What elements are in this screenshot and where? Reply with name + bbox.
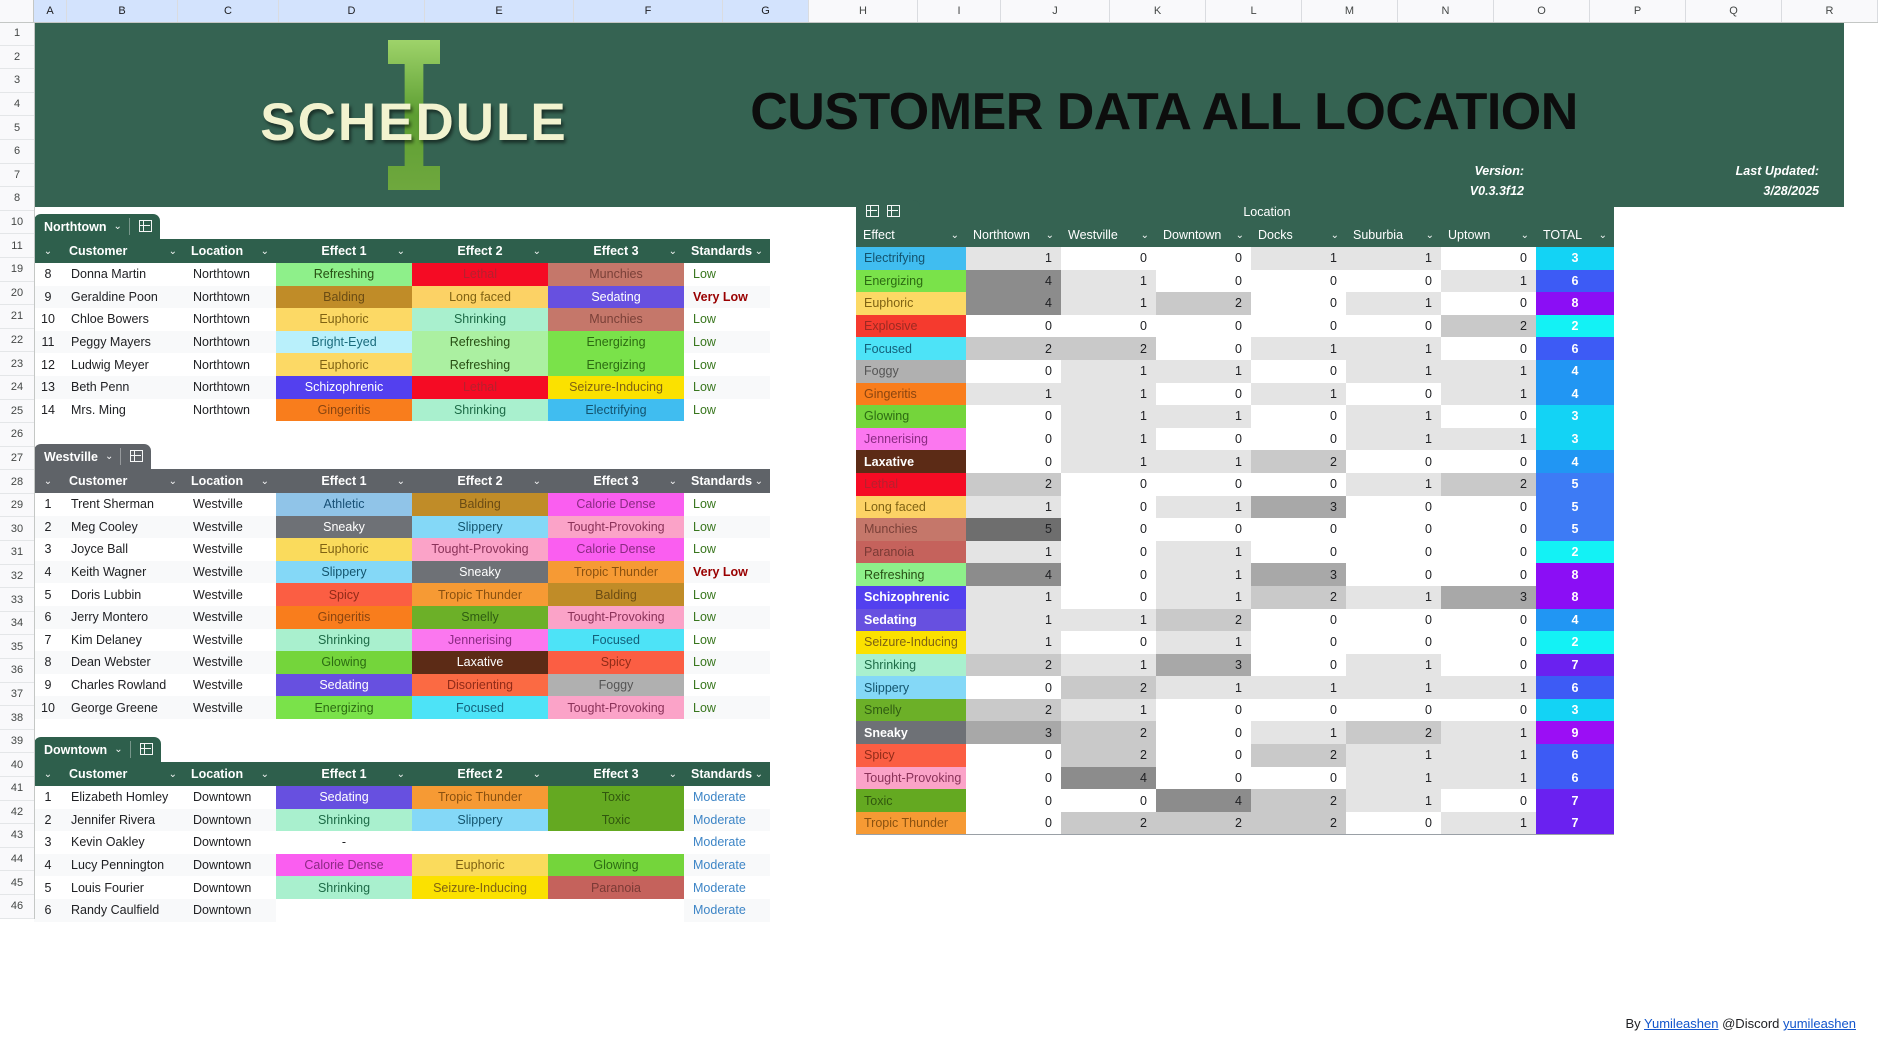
table-row[interactable]: 8Dean WebsterWestvilleGlowingLaxativeSpi… — [34, 651, 770, 674]
pivot-value-cell: 4 — [966, 563, 1061, 586]
table-row[interactable]: 6Jerry MonteroWestvilleGingeritisSmellyT… — [34, 606, 770, 629]
chevron-down-icon[interactable]: ⌄ — [169, 246, 177, 257]
pivot-value-cell: 2 — [1251, 586, 1346, 609]
column-location[interactable]: Location⌄ — [184, 469, 276, 493]
column-effect-1[interactable]: Effect 1⌄ — [276, 762, 412, 786]
table-row[interactable]: 10Chloe BowersNorthtownEuphoricShrinking… — [34, 308, 770, 331]
table-row[interactable]: 1Trent ShermanWestvilleAthleticBaldingCa… — [34, 493, 770, 516]
pivot-row[interactable]: Jennerising0100113 — [856, 428, 1614, 451]
cell-effect-3: Sedating — [548, 286, 684, 309]
table-row[interactable]: 1Elizabeth HomleyDowntownSedatingTropic … — [34, 786, 770, 809]
pivot-value-cell: 0 — [1441, 541, 1536, 564]
pivot-total-cell: 6 — [1536, 767, 1614, 790]
chevron-down-icon[interactable]: ⌄ — [44, 476, 52, 487]
column-header-i[interactable]: I — [918, 0, 1001, 22]
pivot-row[interactable]: Sedating1120004 — [856, 609, 1614, 632]
cell-customer: Keith Wagner — [62, 561, 184, 584]
cell-location: Westville — [184, 651, 276, 674]
row-header-19[interactable]: 19 — [0, 258, 34, 282]
pivot-value-cell: 2 — [966, 473, 1061, 496]
column-header-m[interactable]: M — [1302, 0, 1398, 22]
pivot-column-total[interactable]: TOTAL⌄ — [1536, 223, 1614, 247]
column-header-n[interactable]: N — [1398, 0, 1494, 22]
pivot-row[interactable]: Smelly2100003 — [856, 699, 1614, 722]
column-header-p[interactable]: P — [1590, 0, 1686, 22]
pivot-value-cell: 1 — [1251, 721, 1346, 744]
pivot-row[interactable]: Tropic Thunder0222017 — [856, 812, 1614, 835]
column-customer[interactable]: Customer⌄ — [62, 239, 184, 263]
table-row[interactable]: 12Ludwig MeyerNorthtownEuphoricRefreshin… — [34, 353, 770, 376]
pivot-value-cell: 1 — [1061, 654, 1156, 677]
row-header-3[interactable]: 3 — [0, 69, 34, 93]
pivot-value-cell: 0 — [966, 450, 1061, 473]
pivot-value-cell: 0 — [1061, 315, 1156, 338]
cell-effect-1: Gingeritis — [276, 399, 412, 422]
row-header-45[interactable]: 45 — [0, 871, 34, 895]
column-header-b[interactable]: B — [67, 0, 178, 22]
row-header-1[interactable]: 1 — [0, 22, 34, 46]
pivot-value-cell: 0 — [1156, 315, 1251, 338]
chevron-down-icon[interactable]: ⌄ — [1141, 230, 1149, 241]
column-header-c[interactable]: C — [178, 0, 279, 22]
cell-effect-2: Disorienting — [412, 674, 548, 697]
cell-effect-2: Smelly — [412, 606, 548, 629]
row-header-32[interactable]: 32 — [0, 565, 34, 589]
chevron-down-icon[interactable]: ⌄ — [44, 769, 52, 780]
chevron-down-icon[interactable]: ⌄ — [261, 246, 269, 257]
table-row[interactable]: 4Lucy PenningtonDowntownCalorie DenseEup… — [34, 854, 770, 877]
row-header-31[interactable]: 31 — [0, 541, 34, 565]
pivot-value-cell: 0 — [1061, 518, 1156, 541]
row-header-36[interactable]: 36 — [0, 659, 34, 683]
chevron-down-icon[interactable]: ⌄ — [1521, 230, 1529, 241]
column-effect-3[interactable]: Effect 3⌄ — [548, 762, 684, 786]
pivot-value-cell: 2 — [1061, 721, 1156, 744]
cell-effect-3: Balding — [548, 583, 684, 606]
column-header-r[interactable]: R — [1782, 0, 1878, 22]
pivot-total-cell: 4 — [1536, 609, 1614, 632]
tab-chevron-down-icon[interactable]: ⌄ — [105, 451, 113, 462]
row-header-23[interactable]: 23 — [0, 352, 34, 376]
chevron-down-icon[interactable]: ⌄ — [261, 769, 269, 780]
row-index: 11 — [34, 331, 62, 354]
column-label: TOTAL — [1543, 228, 1582, 242]
cell-location: Westville — [184, 583, 276, 606]
pivot-value-cell: 1 — [1061, 292, 1156, 315]
pivot-column-westville[interactable]: Westville⌄ — [1061, 223, 1156, 247]
row-header-41[interactable]: 41 — [0, 777, 34, 801]
pivot-row[interactable]: Laxative0112004 — [856, 450, 1614, 473]
pivot-value-cell: 1 — [1441, 383, 1536, 406]
pivot-effect-label: Tought-Provoking — [856, 767, 966, 790]
row-header-44[interactable]: 44 — [0, 848, 34, 872]
pivot-column-suburbia[interactable]: Suburbia⌄ — [1346, 223, 1441, 247]
pivot-value-cell: 0 — [966, 405, 1061, 428]
chevron-down-icon[interactable]: ⌄ — [533, 769, 541, 780]
grid-area: SCHEDULE CUSTOMER DATA ALL LOCATION Vers… — [34, 22, 1878, 1043]
column-effect-1[interactable]: Effect 1⌄ — [276, 469, 412, 493]
column-effect-2[interactable]: Effect 2⌄ — [412, 469, 548, 493]
pivot-total-cell: 8 — [1536, 586, 1614, 609]
discord-link[interactable]: yumileashen — [1783, 1016, 1856, 1031]
row-header-37[interactable]: 37 — [0, 683, 34, 707]
pivot-value-cell: 1 — [1441, 270, 1536, 293]
column-label: Effect 3 — [593, 244, 638, 258]
pivot-column-effect[interactable]: Effect⌄ — [856, 223, 966, 247]
pivot-value-cell: 1 — [966, 496, 1061, 519]
pivot-effect-label: Toxic — [856, 789, 966, 812]
footer-credit: By Yumileashen @Discord yumileashen — [1625, 1016, 1856, 1031]
pivot-value-cell: 1 — [1346, 292, 1441, 315]
column-header-j[interactable]: J — [1001, 0, 1110, 22]
table-northtown: Northtown⌄⌄Customer⌄Location⌄Effect 1⌄Ef… — [34, 214, 770, 421]
row-filter-chevron[interactable]: ⌄ — [34, 239, 62, 263]
pivot-row[interactable]: Slippery0211116 — [856, 676, 1614, 699]
chevron-down-icon[interactable]: ⌄ — [397, 476, 405, 487]
column-effect-3[interactable]: Effect 3⌄ — [548, 469, 684, 493]
pivot-value-cell: 1 — [1441, 428, 1536, 451]
pivot-value-cell: 2 — [1251, 744, 1346, 767]
row-header-5[interactable]: 5 — [0, 116, 34, 140]
cell-location: Westville — [184, 493, 276, 516]
row-header-40[interactable]: 40 — [0, 753, 34, 777]
column-customer[interactable]: Customer⌄ — [62, 762, 184, 786]
calculator-icon[interactable] — [137, 219, 152, 234]
table-row[interactable]: 14Mrs. MingNorthtownGingeritisShrinkingE… — [34, 399, 770, 422]
last-updated-value: 3/28/2025 — [1594, 184, 1819, 198]
column-effect-2[interactable]: Effect 2⌄ — [412, 762, 548, 786]
cell-effect-3: Foggy — [548, 674, 684, 697]
column-header-a[interactable]: A — [34, 0, 67, 22]
row-header-8[interactable]: 8 — [0, 187, 34, 211]
table-tab-westville[interactable]: Westville⌄ — [34, 444, 151, 469]
column-label: Northtown — [973, 228, 1030, 242]
chevron-down-icon[interactable]: ⌄ — [397, 769, 405, 780]
cell-customer: Jennifer Rivera — [62, 809, 184, 832]
chevron-down-icon[interactable]: ⌄ — [1331, 230, 1339, 241]
cell-customer: Chloe Bowers — [62, 308, 184, 331]
pivot-column-downtown[interactable]: Downtown⌄ — [1156, 223, 1251, 247]
cell-effect-2: Slippery — [412, 809, 548, 832]
column-label: Uptown — [1448, 228, 1490, 242]
row-header-35[interactable]: 35 — [0, 635, 34, 659]
pivot-value-cell: 1 — [1061, 360, 1156, 383]
table-row[interactable]: 10George GreeneWestvilleEnergizingFocuse… — [34, 696, 770, 719]
table-row[interactable]: 6Randy CaulfieldDowntownModerate — [34, 899, 770, 922]
pivot-value-cell: 2 — [1251, 789, 1346, 812]
chevron-down-icon[interactable]: ⌄ — [669, 246, 677, 257]
pivot-row[interactable]: Munchies5000005 — [856, 518, 1614, 541]
column-label: Westville — [1068, 228, 1118, 242]
row-header-20[interactable]: 20 — [0, 282, 34, 306]
pivot-value-cell: 0 — [1346, 518, 1441, 541]
pivot-row[interactable]: Glowing0110103 — [856, 405, 1614, 428]
pivot-effect-label: Jennerising — [856, 428, 966, 451]
pivot-value-cell: 0 — [1346, 450, 1441, 473]
table-row[interactable]: 5Doris LubbinWestvilleSpicyTropic Thunde… — [34, 583, 770, 606]
pivot-value-cell: 0 — [1251, 518, 1346, 541]
cell-effect-2: Focused — [412, 696, 548, 719]
table-row[interactable]: 13Beth PennNorthtownSchizophrenicLethalS… — [34, 376, 770, 399]
table-tab-label: Downtown — [44, 743, 107, 757]
pivot-value-cell: 1 — [966, 541, 1061, 564]
cell-effect-3: Munchies — [548, 263, 684, 286]
pivot-effect-label: Sneaky — [856, 721, 966, 744]
table-row[interactable]: 9Geraldine PoonNorthtownBaldingLong face… — [34, 286, 770, 309]
table-row[interactable]: 3Joyce BallWestvilleEuphoricTought-Provo… — [34, 538, 770, 561]
pivot-row[interactable]: Refreshing4013008 — [856, 563, 1614, 586]
row-index: 14 — [34, 399, 62, 422]
pivot-column-uptown[interactable]: Uptown⌄ — [1441, 223, 1536, 247]
row-header-21[interactable]: 21 — [0, 305, 34, 329]
column-header-k[interactable]: K — [1110, 0, 1206, 22]
chevron-down-icon[interactable]: ⌄ — [533, 246, 541, 257]
pivot-value-cell: 4 — [966, 270, 1061, 293]
column-customer[interactable]: Customer⌄ — [62, 469, 184, 493]
pivot-value-cell: 0 — [1156, 270, 1251, 293]
cell-standards: Moderate — [684, 809, 770, 832]
table-row[interactable]: 2Jennifer RiveraDowntownShrinkingSlipper… — [34, 809, 770, 832]
column-effect-1[interactable]: Effect 1⌄ — [276, 239, 412, 263]
pivot-total-cell: 5 — [1536, 496, 1614, 519]
cell-customer: Elizabeth Homley — [62, 786, 184, 809]
row-index: 12 — [34, 353, 62, 376]
row-header-34[interactable]: 34 — [0, 612, 34, 636]
pivot-column-northtown[interactable]: Northtown⌄ — [966, 223, 1061, 247]
row-header-39[interactable]: 39 — [0, 730, 34, 754]
pivot-column-docks[interactable]: Docks⌄ — [1251, 223, 1346, 247]
chevron-down-icon[interactable]: ⌄ — [261, 476, 269, 487]
pivot-value-cell: 1 — [1156, 541, 1251, 564]
row-header-10[interactable]: 10 — [0, 211, 34, 235]
pivot-value-cell: 0 — [1346, 812, 1441, 835]
column-standards[interactable]: Standards⌄ — [684, 469, 770, 493]
column-header-h[interactable]: H — [809, 0, 918, 22]
table-row[interactable]: 4Keith WagnerWestvilleSlipperySneakyTrop… — [34, 561, 770, 584]
column-header-f[interactable]: F — [574, 0, 723, 22]
tab-divider — [130, 741, 131, 758]
row-header-22[interactable]: 22 — [0, 329, 34, 353]
row-header-30[interactable]: 30 — [0, 517, 34, 541]
table-row[interactable]: 5Louis FourierDowntownShrinkingSeizure-I… — [34, 876, 770, 899]
chevron-down-icon[interactable]: ⌄ — [169, 476, 177, 487]
row-header-6[interactable]: 6 — [0, 140, 34, 164]
column-location[interactable]: Location⌄ — [184, 762, 276, 786]
pivot-value-cell: 1 — [1156, 496, 1251, 519]
cell-effect-3: Toxic — [548, 786, 684, 809]
cell-customer: Louis Fourier — [62, 876, 184, 899]
pivot-row[interactable]: Seizure-Inducing1010002 — [856, 631, 1614, 654]
pivot-value-cell: 2 — [1346, 721, 1441, 744]
cell-effect-3: Calorie Dense — [548, 538, 684, 561]
row-header-46[interactable]: 46 — [0, 895, 34, 919]
pivot-row[interactable]: Toxic0042107 — [856, 789, 1614, 812]
column-header-g[interactable]: G — [723, 0, 809, 22]
pivot-row[interactable]: Schizophrenic1012138 — [856, 586, 1614, 609]
cell-location: Northtown — [184, 263, 276, 286]
column-header-d[interactable]: D — [279, 0, 425, 22]
table-row[interactable]: 8Donna MartinNorthtownRefreshingLethalMu… — [34, 263, 770, 286]
table-row[interactable]: 3Kevin OakleyDowntown-Moderate — [34, 831, 770, 854]
row-header-26[interactable]: 26 — [0, 423, 34, 447]
row-header-4[interactable]: 4 — [0, 93, 34, 117]
table-row[interactable]: 2Meg CooleyWestvilleSneakySlipperyTought… — [34, 516, 770, 539]
pivot-total-cell: 7 — [1536, 789, 1614, 812]
chevron-down-icon[interactable]: ⌄ — [397, 246, 405, 257]
row-header-43[interactable]: 43 — [0, 824, 34, 848]
pivot-row[interactable]: Gingeritis1101014 — [856, 383, 1614, 406]
chevron-down-icon[interactable]: ⌄ — [533, 476, 541, 487]
row-filter-chevron[interactable]: ⌄ — [34, 762, 62, 786]
pivot-value-cell: 0 — [1061, 586, 1156, 609]
cell-standards: Low — [684, 399, 770, 422]
pivot-value-cell: 1 — [1251, 383, 1346, 406]
column-header-q[interactable]: Q — [1686, 0, 1782, 22]
chevron-down-icon[interactable]: ⌄ — [755, 246, 763, 257]
row-header-38[interactable]: 38 — [0, 706, 34, 730]
pivot-row[interactable]: Foggy0110114 — [856, 360, 1614, 383]
table-row[interactable]: 7Kim DelaneyWestvilleShrinkingJennerisin… — [34, 629, 770, 652]
table-row[interactable]: 9Charles RowlandWestvilleSedatingDisorie… — [34, 674, 770, 697]
column-header-o[interactable]: O — [1494, 0, 1590, 22]
calculator-icon[interactable] — [128, 449, 143, 464]
pivot-value-cell: 0 — [966, 812, 1061, 835]
pivot-value-cell: 0 — [1251, 541, 1346, 564]
cell-effect-3: Tought-Provoking — [548, 606, 684, 629]
row-header-11[interactable]: 11 — [0, 234, 34, 258]
cell-standards: Low — [684, 516, 770, 539]
table-icon[interactable] — [864, 204, 879, 219]
column-standards[interactable]: Standards⌄ — [684, 762, 770, 786]
row-header-33[interactable]: 33 — [0, 588, 34, 612]
row-index: 3 — [34, 538, 62, 561]
column-label: Downtown — [1163, 228, 1221, 242]
pivot-header-row: Effect⌄Northtown⌄Westville⌄Downtown⌄Dock… — [856, 223, 1614, 247]
row-header-24[interactable]: 24 — [0, 376, 34, 400]
chevron-down-icon[interactable]: ⌄ — [1599, 230, 1607, 241]
table-header-row: ⌄Customer⌄Location⌄Effect 1⌄Effect 2⌄Eff… — [34, 762, 770, 786]
pivot-row[interactable]: Spicy0202116 — [856, 744, 1614, 767]
column-label: Location — [191, 474, 243, 488]
pivot-value-cell: 0 — [1156, 518, 1251, 541]
pivot-effect-label: Slippery — [856, 676, 966, 699]
cell-customer: Peggy Mayers — [62, 331, 184, 354]
pivot-row[interactable]: Paranoia1010002 — [856, 541, 1614, 564]
tab-chevron-down-icon[interactable]: ⌄ — [114, 744, 122, 755]
pivot-row[interactable]: Tought-Provoking0400116 — [856, 767, 1614, 790]
cell-customer: Joyce Ball — [62, 538, 184, 561]
cell-effect-3: Calorie Dense — [548, 493, 684, 516]
pivot-row[interactable]: Focused2201106 — [856, 337, 1614, 360]
chevron-down-icon[interactable]: ⌄ — [1426, 230, 1434, 241]
cell-effect-1: Sneaky — [276, 516, 412, 539]
column-location[interactable]: Location⌄ — [184, 239, 276, 263]
row-header-42[interactable]: 42 — [0, 801, 34, 825]
pivot-effect-label: Explosive — [856, 315, 966, 338]
table-row[interactable]: 11Peggy MayersNorthtownBright-EyedRefres… — [34, 331, 770, 354]
row-filter-chevron[interactable]: ⌄ — [34, 469, 62, 493]
chevron-down-icon[interactable]: ⌄ — [755, 476, 763, 487]
table-tab-label: Westville — [44, 450, 98, 464]
pivot-value-cell: 0 — [1251, 699, 1346, 722]
cell-effect-2: Tought-Provoking — [412, 538, 548, 561]
pivot-value-cell: 1 — [1156, 586, 1251, 609]
pivot-value-cell: 0 — [1346, 699, 1441, 722]
column-standards[interactable]: Standards⌄ — [684, 239, 770, 263]
cell-effect-1: Spicy — [276, 583, 412, 606]
chevron-down-icon[interactable]: ⌄ — [951, 230, 959, 241]
pivot-row[interactable]: Long faced1013005 — [856, 496, 1614, 519]
cell-location: Northtown — [184, 353, 276, 376]
chevron-down-icon[interactable]: ⌄ — [669, 769, 677, 780]
cell-effect-3 — [548, 831, 684, 854]
pivot-value-cell: 0 — [1156, 699, 1251, 722]
chevron-down-icon[interactable]: ⌄ — [1046, 230, 1054, 241]
tab-chevron-down-icon[interactable]: ⌄ — [113, 221, 121, 232]
cell-customer: Kevin Oakley — [62, 831, 184, 854]
pivot-value-cell: 0 — [1061, 563, 1156, 586]
pivot-row[interactable]: Explosive0000022 — [856, 315, 1614, 338]
row-header-27[interactable]: 27 — [0, 447, 34, 471]
pivot-value-cell: 1 — [1346, 654, 1441, 677]
row-header-7[interactable]: 7 — [0, 164, 34, 188]
pivot-row[interactable]: Energizing4100016 — [856, 270, 1614, 293]
cell-standards: Moderate — [684, 876, 770, 899]
pivot-total-cell: 6 — [1536, 744, 1614, 767]
table-tab-northtown[interactable]: Northtown⌄ — [34, 214, 160, 239]
row-header-25[interactable]: 25 — [0, 400, 34, 424]
cell-effect-1: Sedating — [276, 674, 412, 697]
cell-standards: Low — [684, 674, 770, 697]
chevron-down-icon[interactable]: ⌄ — [755, 769, 763, 780]
column-effect-3[interactable]: Effect 3⌄ — [548, 239, 684, 263]
pivot-row[interactable]: Lethal2000125 — [856, 473, 1614, 496]
calculator-icon[interactable] — [885, 204, 900, 219]
pivot-total-cell: 2 — [1536, 631, 1614, 654]
cell-location: Northtown — [184, 308, 276, 331]
column-label: Standards — [691, 244, 752, 258]
chevron-down-icon[interactable]: ⌄ — [44, 246, 52, 257]
column-label: Location — [191, 767, 243, 781]
row-header-28[interactable]: 28 — [0, 470, 34, 494]
pivot-value-cell: 1 — [966, 631, 1061, 654]
row-header-29[interactable]: 29 — [0, 494, 34, 518]
row-header-column: 1234567810111920212223242526272829303132… — [0, 22, 35, 919]
row-index: 7 — [34, 629, 62, 652]
table-tab-label: Northtown — [44, 220, 106, 234]
pivot-row[interactable]: Electrifying1001103 — [856, 247, 1614, 270]
column-effect-2[interactable]: Effect 2⌄ — [412, 239, 548, 263]
column-header-l[interactable]: L — [1206, 0, 1302, 22]
author-link[interactable]: Yumileashen — [1644, 1016, 1718, 1031]
cell-effect-3 — [548, 899, 684, 922]
pivot-value-cell: 1 — [1346, 428, 1441, 451]
calculator-icon[interactable] — [138, 742, 153, 757]
chevron-down-icon[interactable]: ⌄ — [1236, 230, 1244, 241]
select-all-corner[interactable] — [0, 0, 34, 22]
row-header-2[interactable]: 2 — [0, 46, 34, 70]
pivot-value-cell: 0 — [1251, 473, 1346, 496]
pivot-row[interactable]: Sneaky3201219 — [856, 721, 1614, 744]
table-tab-downtown[interactable]: Downtown⌄ — [34, 737, 161, 762]
pivot-row[interactable]: Euphoric4120108 — [856, 292, 1614, 315]
chevron-down-icon[interactable]: ⌄ — [669, 476, 677, 487]
chevron-down-icon[interactable]: ⌄ — [169, 769, 177, 780]
pivot-value-cell: 0 — [1156, 473, 1251, 496]
column-header-e[interactable]: E — [425, 0, 574, 22]
pivot-row[interactable]: Shrinking2130107 — [856, 654, 1614, 677]
pivot-effect-label: Long faced — [856, 496, 966, 519]
